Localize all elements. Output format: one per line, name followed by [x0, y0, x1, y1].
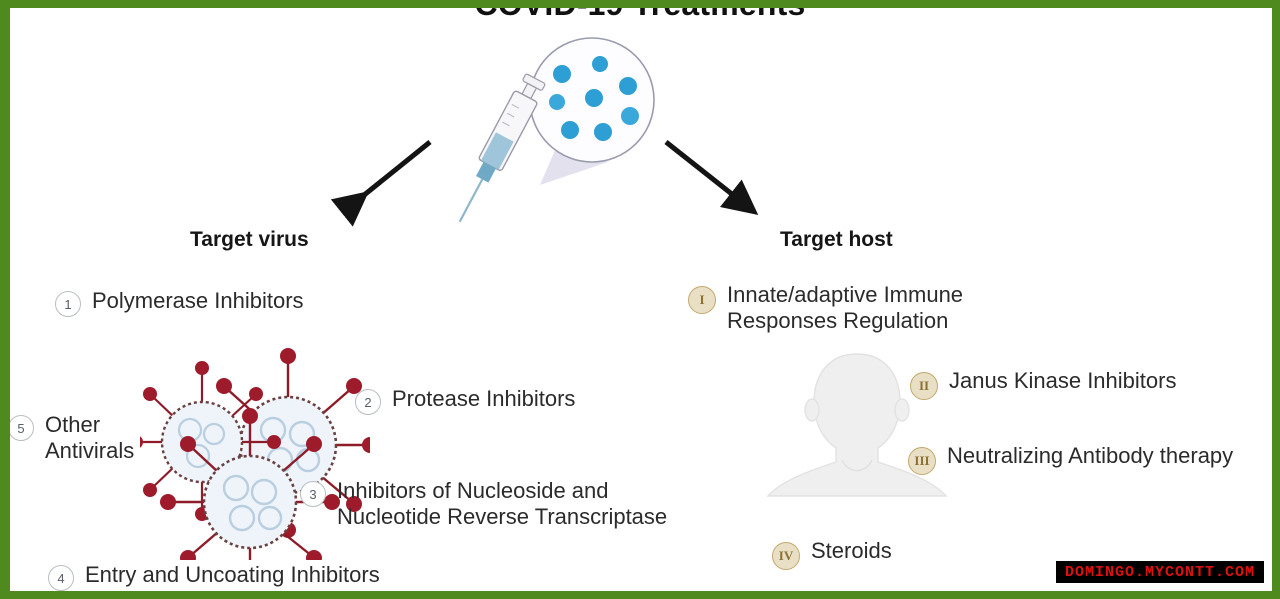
list-item: 2 Protease Inhibitors: [355, 386, 575, 415]
branch-heading-target-host: Target host: [780, 228, 893, 252]
list-item-label: Janus Kinase Inhibitors: [949, 368, 1176, 394]
arrow-to-target-host: [640, 130, 770, 240]
marker-badge: 2: [355, 389, 381, 415]
list-item-label: Other Antivirals: [45, 412, 134, 464]
list-item: II Janus Kinase Inhibitors: [910, 368, 1176, 400]
list-item-label: Steroids: [811, 538, 892, 564]
list-item: I Innate/adaptive Immune Responses Regul…: [688, 282, 963, 334]
list-item: 4 Entry and Uncoating Inhibitors: [48, 562, 380, 591]
marker-badge: 5: [8, 415, 34, 441]
figure-canvas: COVID-19 Treatments: [0, 0, 1280, 599]
list-item-label: Innate/adaptive Immune Responses Regulat…: [727, 282, 963, 334]
list-item: III Neutralizing Antibody therapy: [908, 443, 1233, 475]
list-item-label: Neutralizing Antibody therapy: [947, 443, 1233, 469]
marker-badge: 3: [300, 481, 326, 507]
marker-badge: II: [910, 372, 938, 400]
list-item: IV Steroids: [772, 538, 892, 570]
list-item: 1 Polymerase Inhibitors: [55, 288, 304, 317]
list-item: 3 Inhibitors of Nucleoside and Nucleotid…: [300, 478, 667, 530]
watermark: DOMINGO.MYCONTT.COM: [1056, 561, 1264, 583]
list-item: 5 Other Antivirals: [8, 412, 134, 464]
marker-badge: I: [688, 286, 716, 314]
list-item-label: Protease Inhibitors: [392, 386, 575, 412]
list-item-label: Entry and Uncoating Inhibitors: [85, 562, 380, 588]
marker-badge: 4: [48, 565, 74, 591]
syringe-icon: [448, 73, 547, 228]
marker-badge: III: [908, 447, 936, 475]
arrow-to-target-virus: [330, 130, 440, 240]
figure-frame: COVID-19 Treatments: [0, 0, 1280, 599]
list-item-label: Inhibitors of Nucleoside and Nucleotide …: [337, 478, 667, 530]
marker-badge: IV: [772, 542, 800, 570]
list-item-label: Polymerase Inhibitors: [92, 288, 304, 314]
marker-badge: 1: [55, 291, 81, 317]
branch-heading-target-virus: Target virus: [190, 228, 309, 252]
